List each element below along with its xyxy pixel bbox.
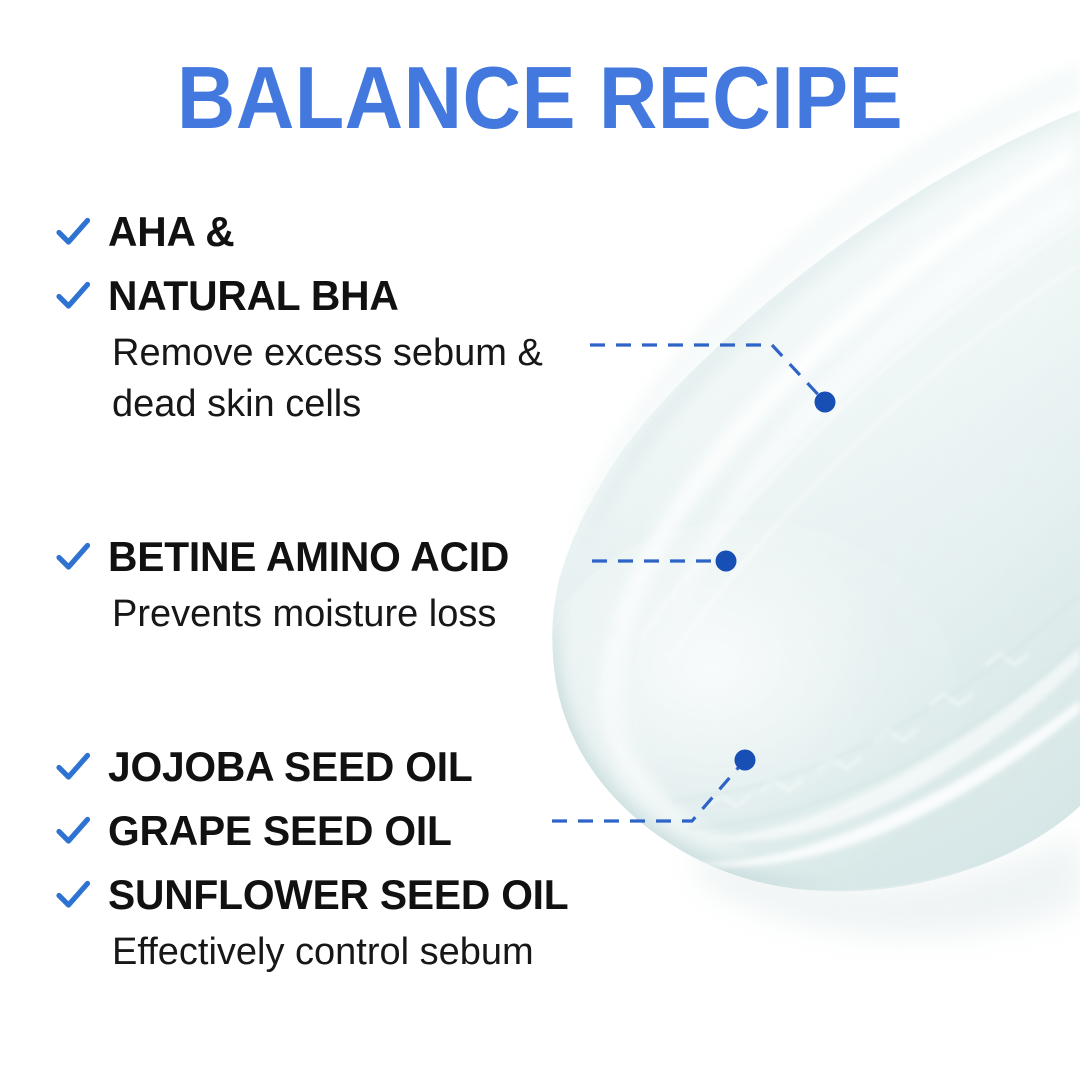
ingredient-label: AHA &: [108, 200, 235, 264]
page-title: BALANCE RECIPE: [43, 52, 1037, 144]
ingredient-group-aha-bha: AHA & NATURAL BHA Remove excess sebum & …: [48, 200, 543, 430]
ingredient-item: BETINE AMINO ACID: [48, 525, 521, 589]
check-icon: [48, 814, 108, 848]
infographic-canvas: BALANCE RECIPE AHA &: [0, 0, 1080, 1080]
ingredient-item: GRAPE SEED OIL: [48, 799, 583, 863]
callout-dot-aha-bha: [815, 392, 836, 413]
check-icon: [48, 750, 108, 784]
ingredient-item: AHA &: [48, 200, 543, 264]
ingredient-description: Remove excess sebum & dead skin cells: [112, 328, 543, 430]
ingredient-label: SUNFLOWER SEED OIL: [108, 863, 569, 927]
ingredient-label: GRAPE SEED OIL: [108, 799, 452, 863]
check-icon: [48, 878, 108, 912]
callout-dot-betine: [716, 551, 737, 572]
ingredient-group-betine: BETINE AMINO ACID Prevents moisture loss: [48, 525, 521, 640]
check-icon: [48, 279, 108, 313]
ingredient-item: SUNFLOWER SEED OIL: [48, 863, 583, 927]
ingredient-item: JOJOBA SEED OIL: [48, 735, 583, 799]
callout-betine: [592, 551, 737, 572]
leader-line-aha-bha: [590, 345, 825, 402]
check-icon: [48, 215, 108, 249]
callout-dot-seed-oils: [735, 750, 756, 771]
ingredient-label: JOJOBA SEED OIL: [108, 735, 473, 799]
check-icon: [48, 540, 108, 574]
ingredient-description: Effectively control sebum: [112, 927, 583, 978]
callout-aha-bha: [590, 345, 836, 413]
ingredient-label: NATURAL BHA: [108, 264, 399, 328]
ingredient-label: BETINE AMINO ACID: [108, 525, 509, 589]
ingredient-item: NATURAL BHA: [48, 264, 543, 328]
ingredient-description: Prevents moisture loss: [112, 589, 521, 640]
ingredient-group-seed-oils: JOJOBA SEED OIL GRAPE SEED OIL SUNFLOWER…: [48, 735, 583, 978]
